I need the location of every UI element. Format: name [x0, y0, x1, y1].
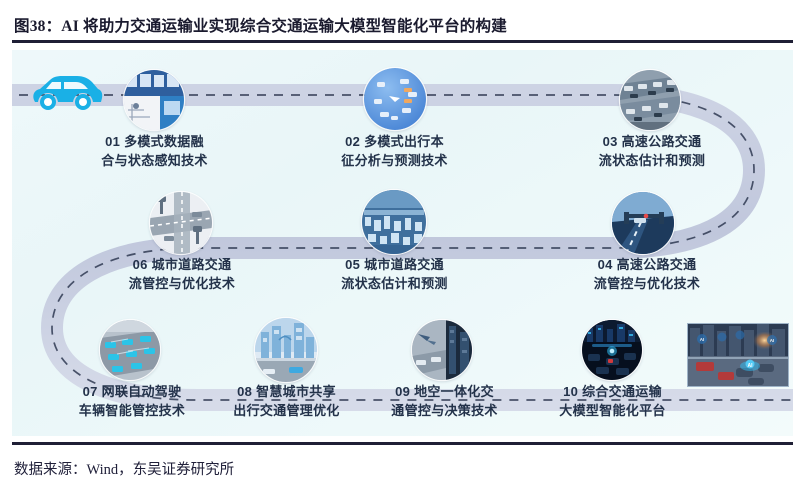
- node-03[interactable]: [620, 70, 680, 130]
- connected-vehicles-icon: [100, 320, 160, 380]
- page-title: 图38：AI 将助力交通运输业实现综合交通运输大模型智能化平台的构建: [14, 14, 792, 36]
- ai-city-scene-icon: AI AI AI: [688, 324, 788, 386]
- highway-traffic-icon: [620, 70, 680, 130]
- node-04-caption: 04 高速公路交通 流管控与优化技术: [552, 255, 742, 293]
- source-note: 数据来源：Wind，东吴证券研究所: [14, 458, 234, 479]
- expressway-gantry-icon: [612, 192, 674, 254]
- node-03-caption: 03 高速公路交通 流状态估计和预测: [557, 132, 747, 170]
- source-divider: [12, 442, 793, 445]
- figure-canvas: 01 多模式数据融 合与状态感知技术: [12, 50, 793, 436]
- node-05[interactable]: [362, 190, 426, 254]
- node-10-caption: 10 综合交通运输 大模型智能化平台: [520, 382, 705, 420]
- ai-badge-1: AI: [700, 337, 705, 342]
- node-10[interactable]: [582, 320, 642, 380]
- title-divider: [12, 40, 793, 43]
- node-07[interactable]: [100, 320, 160, 380]
- control-room-icon: [124, 70, 184, 130]
- node-04[interactable]: [612, 192, 674, 254]
- air-ground-icon: [412, 320, 472, 380]
- ai-smart-transport-photo[interactable]: AI AI AI: [688, 324, 788, 386]
- node-01-caption: 01 多模式数据融 合与状态感知技术: [62, 132, 247, 170]
- globe-mobility-icon: [364, 68, 426, 130]
- car-icon: [30, 72, 104, 114]
- ai-platform-icon: [582, 320, 642, 380]
- smart-city-icon: [255, 318, 317, 382]
- intersection-signal-icon: [150, 192, 212, 254]
- ai-badge-2: AI: [770, 338, 775, 343]
- node-02-caption: 02 多模式出行本 征分析与预测技术: [302, 132, 487, 170]
- node-06[interactable]: [150, 192, 212, 254]
- node-08[interactable]: [255, 318, 317, 382]
- node-01[interactable]: [124, 70, 184, 130]
- city-aerial-icon: [362, 190, 426, 254]
- ai-badge-center: AI: [748, 363, 754, 369]
- node-02[interactable]: [364, 68, 426, 130]
- node-06-caption: 06 城市道路交通 流管控与优化技术: [87, 255, 277, 293]
- node-05-caption: 05 城市道路交通 流状态估计和预测: [302, 255, 487, 293]
- node-09-caption: 09 地空一体化交 通管控与决策技术: [352, 382, 537, 420]
- node-09[interactable]: [412, 320, 472, 380]
